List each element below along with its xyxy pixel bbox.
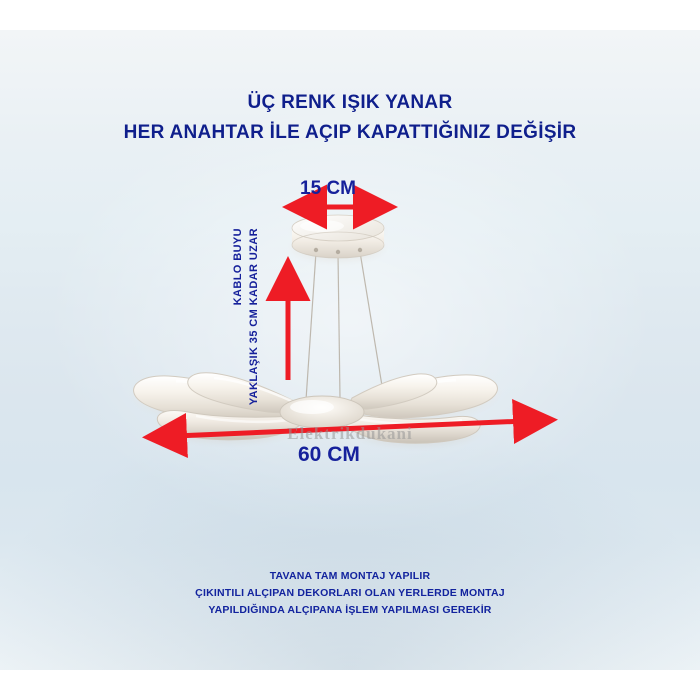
- label-width-bottom: 60 CM: [298, 443, 360, 467]
- headline-line-1: ÜÇ RENK IŞIK YANAR: [0, 92, 700, 114]
- footnote-line-2: ÇIKINTILI ALÇIPAN DEKORLARI OLAN YERLERD…: [0, 587, 700, 599]
- footnote-line-3: YAPILDIĞINDA ALÇIPANA İŞLEM YAPILMASI GE…: [0, 604, 700, 616]
- watermark: Elektrikdukani: [0, 424, 700, 444]
- label-cable-line-1: KABLO BUYU: [232, 228, 244, 305]
- label-cable-line-2: YAKLAŞIK 35 CM KADAR UZAR: [248, 228, 260, 405]
- product-image-canvas: ÜÇ RENK IŞIK YANAR HER ANAHTAR İLE AÇIP …: [0, 0, 700, 700]
- footnote-line-1: TAVANA TAM MONTAJ YAPILIR: [0, 570, 700, 582]
- headline-line-2: HER ANAHTAR İLE AÇIP KAPATTIĞINIZ DEĞİŞİ…: [0, 122, 700, 144]
- label-width-top: 15 CM: [300, 178, 356, 200]
